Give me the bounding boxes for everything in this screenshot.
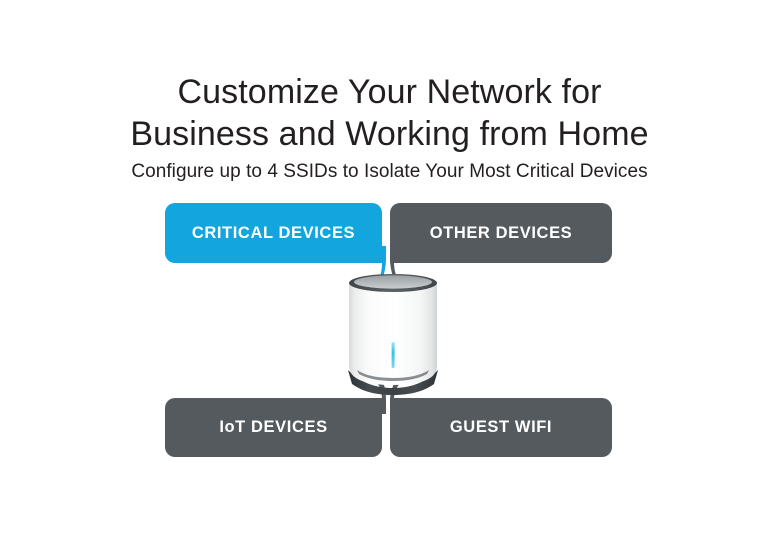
router-top-surface	[354, 275, 432, 288]
headline-line-1: Customize Your Network for	[0, 71, 779, 113]
page-subtitle: Configure up to 4 SSIDs to Isolate Your …	[0, 161, 779, 183]
ssid-card-critical-devices[interactable]: CRITICAL DEVICES	[165, 203, 382, 263]
ssid-card-label: IoT DEVICES	[219, 419, 327, 436]
page-title: Customize Your Network for Business and …	[0, 71, 779, 155]
router-led-indicator	[392, 342, 395, 368]
ssid-card-label: GUEST WIFI	[450, 419, 552, 436]
ssid-card-iot-devices[interactable]: IoT DEVICES	[165, 398, 382, 457]
ssid-card-other-devices[interactable]: OTHER DEVICES	[390, 203, 612, 263]
ssid-card-label: OTHER DEVICES	[430, 225, 573, 242]
router-illustration	[330, 266, 456, 396]
headline-line-2: Business and Working from Home	[0, 113, 779, 155]
ssid-card-label: CRITICAL DEVICES	[192, 225, 355, 242]
ssid-card-guest-wifi[interactable]: GUEST WIFI	[390, 398, 612, 457]
promo-graphic: Customize Your Network for Business and …	[0, 0, 779, 536]
